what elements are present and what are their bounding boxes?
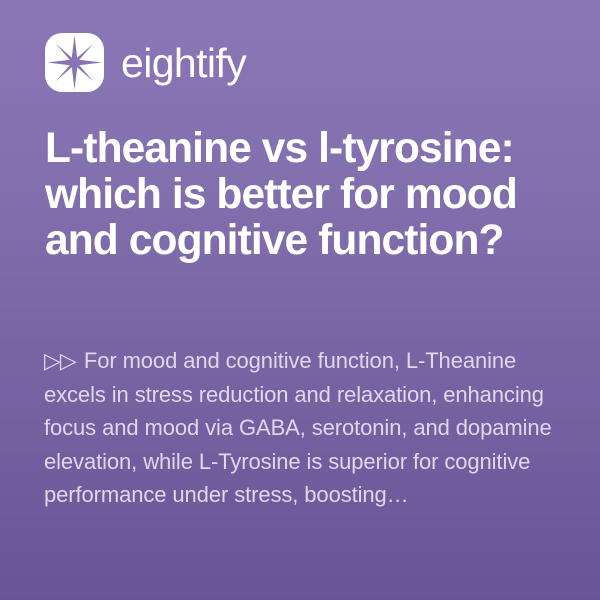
page-title: L-theanine vs l-tyrosine: which is bette… [45, 126, 565, 264]
summary-text: ▷▷ For mood and cognitive function, L-Th… [44, 344, 564, 512]
brand-header: eightify [45, 33, 246, 92]
summary-body: For mood and cognitive function, L-Thean… [44, 348, 552, 507]
double-triangle-marker-icon: ▷▷ [44, 348, 76, 373]
eightify-summary-card: eightify L-theanine vs l-tyrosine: which… [0, 0, 600, 600]
brand-wordmark: eightify [121, 43, 246, 84]
eightify-star-burst-logo-icon [45, 33, 104, 92]
